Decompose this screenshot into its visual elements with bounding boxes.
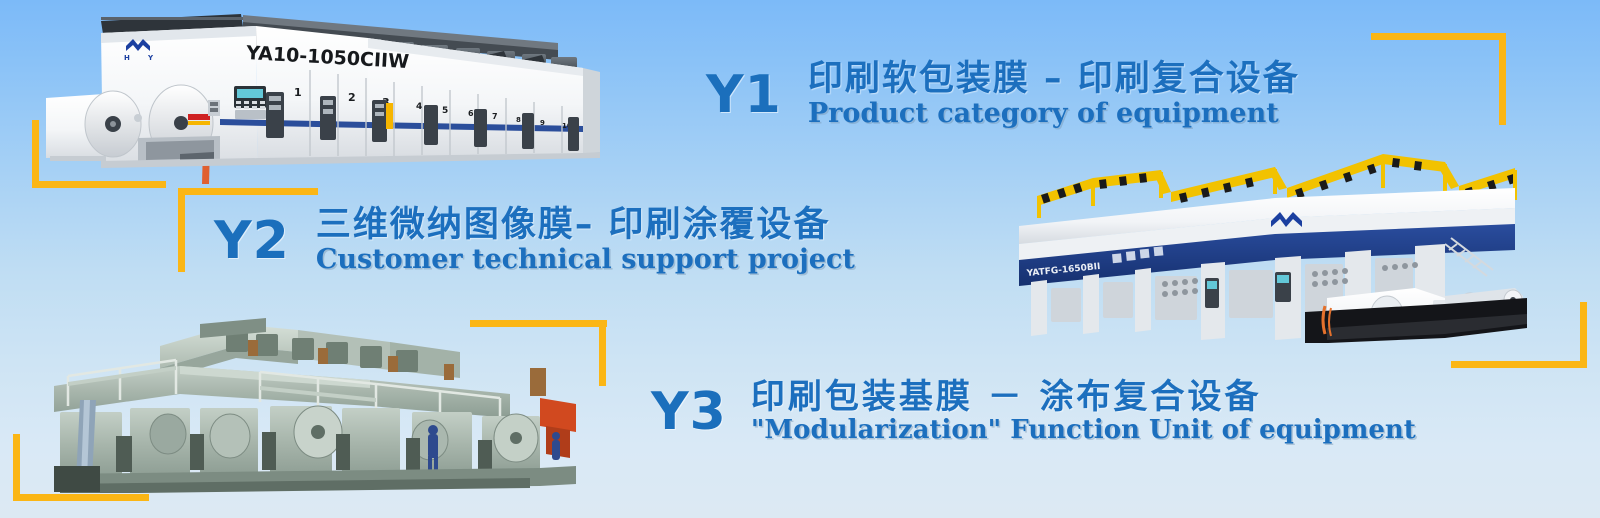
svg-text:8: 8 xyxy=(516,116,521,124)
entry-y2-chinese: 三维微纳图像膜– 印刷涂覆设备 xyxy=(316,208,855,243)
svg-text:4: 4 xyxy=(416,102,422,112)
bracket-mid-left-horizontal xyxy=(178,188,318,195)
svg-text:5: 5 xyxy=(442,106,448,116)
svg-text:9: 9 xyxy=(540,119,545,127)
bracket-top-right-horizontal xyxy=(1371,33,1506,40)
entry-y3-text: 印刷包装基膜 － 涂布复合设备 "Modularization" Functio… xyxy=(751,380,1416,443)
entry-y1-text: 印刷软包装膜 – 印刷复合设备 Product category of equi… xyxy=(808,62,1300,127)
bracket-mid-center-vertical xyxy=(599,320,606,386)
svg-text:H: H xyxy=(124,54,130,62)
bracket-right-lower-horizontal xyxy=(1451,361,1587,368)
bracket-right-lower-vertical xyxy=(1580,302,1587,368)
entry-y1-english: Product category of equipment xyxy=(808,100,1300,127)
entry-y3-english: "Modularization" Function Unit of equipm… xyxy=(751,417,1416,443)
svg-text:1: 1 xyxy=(294,86,302,99)
entry-y2-text: 三维微纳图像膜– 印刷涂覆设备 Customer technical suppo… xyxy=(316,208,855,273)
svg-text:Y: Y xyxy=(147,54,154,62)
equipment-banner: H Y YA10-1050CIIW xyxy=(0,0,1600,518)
entry-y3-code: Y3 xyxy=(651,386,727,438)
machine-photo-coating-laminating-machine: YATFG-1650BII xyxy=(975,148,1530,343)
entry-y1: Y1 印刷软包装膜 – 印刷复合设备 Product category of e… xyxy=(706,62,1300,127)
entry-y3-chinese: 印刷包装基膜 － 涂布复合设备 xyxy=(751,380,1416,414)
entry-y1-chinese: 印刷软包装膜 – 印刷复合设备 xyxy=(808,62,1300,97)
svg-text:2: 2 xyxy=(348,91,356,104)
entry-y2-code: Y2 xyxy=(214,215,290,267)
entry-y1-code: Y1 xyxy=(706,69,782,121)
bracket-mid-left-vertical xyxy=(178,188,185,272)
machine-photo-rotogravure-printing-press: H Y YA10-1050CIIW xyxy=(38,6,608,184)
svg-text:7: 7 xyxy=(492,112,498,121)
machine-photo-paper-coating-line xyxy=(30,308,580,493)
entry-y3: Y3 印刷包装基膜 － 涂布复合设备 "Modularization" Func… xyxy=(651,380,1416,443)
bracket-bottom-left-vertical xyxy=(13,434,20,501)
bracket-top-right-vertical xyxy=(1499,33,1506,125)
entry-y2: Y2 三维微纳图像膜– 印刷涂覆设备 Customer technical su… xyxy=(214,208,855,273)
entry-y2-english: Customer technical support project xyxy=(316,246,855,273)
svg-text:6: 6 xyxy=(468,109,474,118)
bracket-bottom-left-horizontal xyxy=(13,494,149,501)
